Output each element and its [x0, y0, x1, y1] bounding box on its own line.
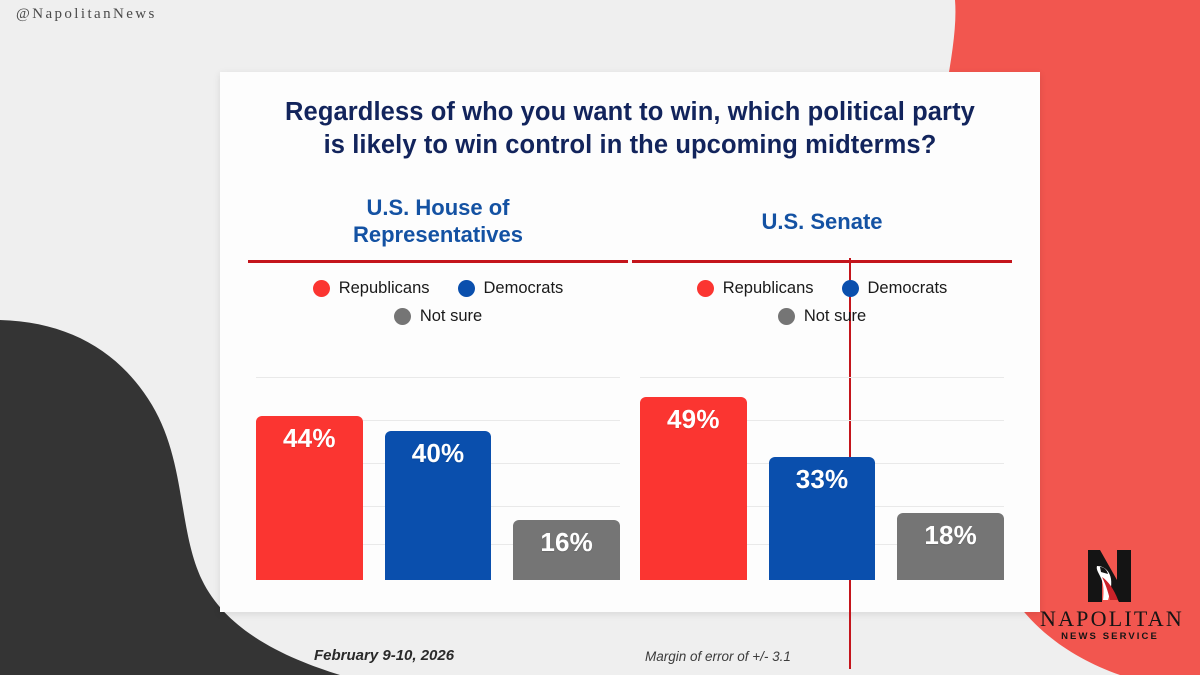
napolitan-logo: NAPOLITAN NEWS SERVICE: [1040, 548, 1180, 648]
panel-heading-house: U.S. House of Representatives: [248, 182, 628, 260]
panel-heading-senate: U.S. Senate: [632, 182, 1012, 260]
chart-card: Regardless of who you want to win, which…: [220, 72, 1040, 612]
legend-item-republicans: Republicans: [697, 279, 814, 298]
legend-senate: Republicans Democrats Not sure: [632, 263, 1012, 326]
logo-wordmark: NAPOLITAN: [1040, 606, 1180, 632]
legend-item-republicans: Republicans: [313, 279, 430, 298]
legend-item-democrats: Democrats: [458, 279, 564, 298]
napolitan-n-mark-icon: [1040, 548, 1180, 604]
bar-senate-democrats: 33%: [769, 457, 876, 580]
bar-house-republicans: 44%: [256, 416, 363, 580]
legend-house: Republicans Democrats Not sure: [248, 263, 628, 326]
bar-label-senate-democrats: 33%: [796, 464, 849, 580]
legend-label-republicans: Republicans: [723, 279, 814, 298]
republican-dot-icon: [697, 280, 714, 297]
social-handle: @NapolitanNews: [16, 6, 157, 23]
panel-heading-house-line-2: Representatives: [353, 222, 523, 247]
legend-row-primary: Republicans Democrats: [632, 279, 1012, 298]
bar-group-senate: 49% 33% 18%: [640, 375, 1004, 580]
chart-title-line-2: is likely to win control in the upcoming…: [250, 129, 1010, 162]
bar-group-house: 44% 40% 16%: [256, 375, 620, 580]
legend-item-not-sure: Not sure: [778, 307, 866, 326]
footer-margin-of-error: Margin of error of +/- 3.1: [645, 649, 791, 664]
plot-area-senate: 49% 33% 18%: [640, 375, 1004, 580]
democrat-dot-icon: [458, 280, 475, 297]
chart-title-line-1: Regardless of who you want to win, which…: [250, 96, 1010, 129]
bar-label-senate-not-sure: 18%: [924, 520, 977, 580]
democrat-dot-icon: [842, 280, 859, 297]
bar-house-not-sure: 16%: [513, 520, 620, 580]
page-title: Regardless of who you want to win, which…: [250, 96, 1010, 162]
panel-heading-senate-line-1: U.S. Senate: [761, 209, 882, 234]
not-sure-dot-icon: [394, 308, 411, 325]
bar-label-house-democrats: 40%: [412, 438, 465, 580]
panel-us-senate: U.S. Senate Republicans Democrats: [632, 182, 1012, 612]
footer-date-range: February 9-10, 2026: [314, 647, 454, 664]
legend-row-primary: Republicans Democrats: [248, 279, 628, 298]
bar-label-house-not-sure: 16%: [540, 527, 593, 580]
panels-container: U.S. House of Representatives Republican…: [220, 182, 1040, 612]
bar-senate-not-sure: 18%: [897, 513, 1004, 580]
logo-tagline: NEWS SERVICE: [1040, 631, 1180, 642]
legend-item-not-sure: Not sure: [394, 307, 482, 326]
bar-label-house-republicans: 44%: [283, 423, 336, 580]
legend-label-not-sure: Not sure: [804, 307, 866, 326]
panel-heading-house-line-1: U.S. House of: [366, 195, 509, 220]
legend-label-democrats: Democrats: [868, 279, 948, 298]
bar-label-senate-republicans: 49%: [667, 404, 720, 580]
bar-house-democrats: 40%: [385, 431, 492, 580]
legend-label-not-sure: Not sure: [420, 307, 482, 326]
bar-senate-republicans: 49%: [640, 397, 747, 580]
legend-label-republicans: Republicans: [339, 279, 430, 298]
panel-us-house: U.S. House of Representatives Republican…: [248, 182, 628, 612]
legend-row-secondary: Not sure: [248, 307, 628, 326]
not-sure-dot-icon: [778, 308, 795, 325]
legend-item-democrats: Democrats: [842, 279, 948, 298]
republican-dot-icon: [313, 280, 330, 297]
legend-label-democrats: Democrats: [484, 279, 564, 298]
plot-area-house: 44% 40% 16%: [256, 375, 620, 580]
legend-row-secondary: Not sure: [632, 307, 1012, 326]
